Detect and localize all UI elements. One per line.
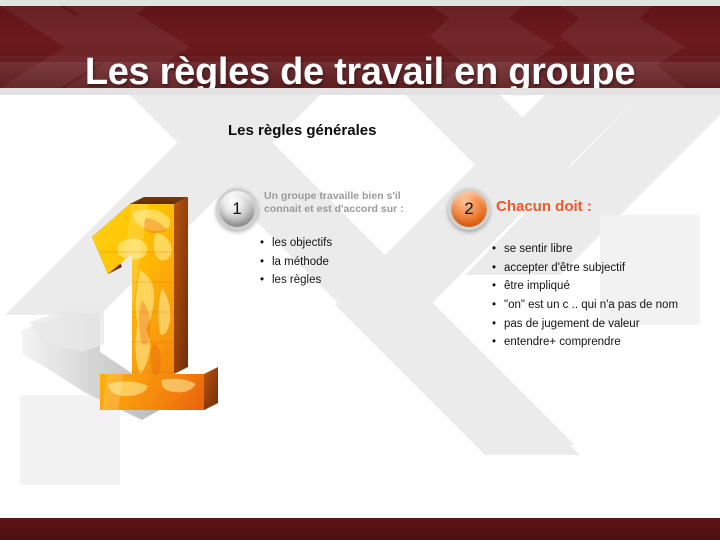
list-item: les règles (260, 271, 440, 290)
bottom-maroon-bar (0, 518, 720, 540)
presentation-slide: Les règles de travail en groupe Les règl… (0, 0, 720, 540)
column-2-heading: Chacun doit : (496, 198, 671, 215)
list-item: "on" est un c .. qui n'a pas de nom (492, 296, 692, 315)
slide-subtitle: Les règles générales (228, 122, 376, 139)
list-item: accepter d'être subjectif (492, 259, 692, 278)
golden-number-one-image (22, 192, 227, 437)
column-2-heading-wrap: Chacun doit : (496, 190, 671, 207)
column-1-heading: Un groupe travaille bien s'il connait et… (264, 190, 439, 217)
list-item: les objectifs (260, 234, 440, 253)
list-item: être impliqué (492, 277, 692, 296)
page-title: Les règles de travail en groupe (0, 31, 720, 113)
list-item: pas de jugement de valeur (492, 315, 692, 334)
column-2-bullet-list: se sentir libre accepter d'être subjecti… (492, 240, 692, 352)
step-badge-1: 1 (216, 188, 258, 230)
list-item: entendre+ comprendre (492, 333, 692, 352)
step-badge-2: 2 (448, 188, 490, 230)
list-item: se sentir libre (492, 240, 692, 259)
banner-bottom-gray-strip (0, 88, 720, 95)
column-1-bullet-list: les objectifs la méthode les règles (260, 234, 440, 290)
list-item: la méthode (260, 253, 440, 272)
